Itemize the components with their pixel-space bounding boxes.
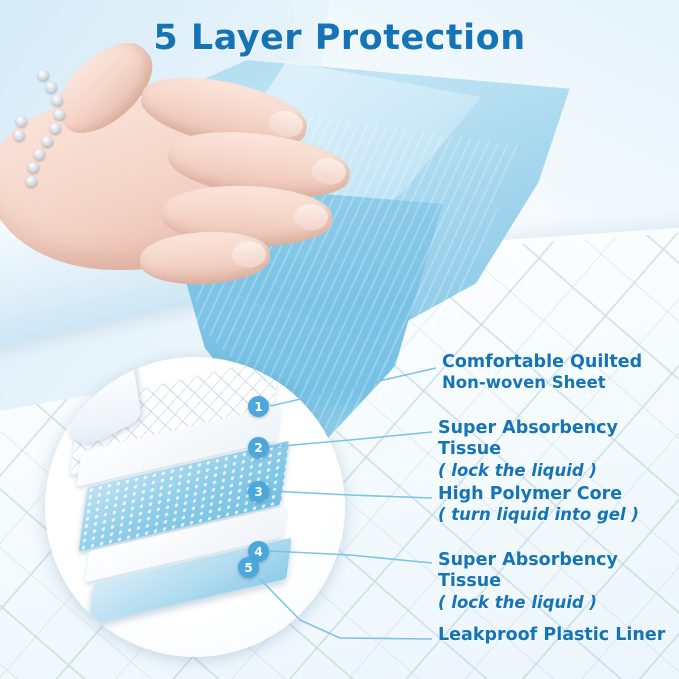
callout-2-line1: Super Absorbency Tissue bbox=[438, 418, 618, 459]
callout-4-note: ( lock the liquid ) bbox=[438, 593, 679, 613]
callout-3-note: ( turn liquid into gel ) bbox=[438, 505, 639, 525]
product-infographic: 5 Layer Protection 1 2 3 4 5 Comfortable… bbox=[0, 0, 679, 679]
callout-3-line1: High Polymer Core bbox=[438, 484, 622, 504]
fingernail bbox=[231, 241, 266, 269]
callout-1-line2: Non-woven Sheet bbox=[442, 373, 642, 393]
layer-badge-3: 3 bbox=[248, 481, 269, 502]
fingernail bbox=[310, 157, 347, 187]
callout-layer-3: High Polymer Core ( turn liquid into gel… bbox=[438, 484, 639, 525]
layer-diagram-circle bbox=[45, 357, 345, 657]
bracelet bbox=[12, 66, 104, 196]
callout-layer-2: Super Absorbency Tissue ( lock the liqui… bbox=[438, 418, 679, 481]
fingernail bbox=[294, 204, 329, 231]
callout-1-line1: Comfortable Quilted bbox=[442, 352, 642, 372]
page-title: 5 Layer Protection bbox=[0, 18, 679, 58]
callout-layer-1: Comfortable Quilted Non-woven Sheet bbox=[442, 352, 642, 393]
callout-4-line1: Super Absorbency Tissue bbox=[438, 550, 618, 591]
callout-2-note: ( lock the liquid ) bbox=[438, 461, 679, 481]
callout-layer-5: Leakproof Plastic Liner bbox=[438, 625, 665, 646]
callout-5-line1: Leakproof Plastic Liner bbox=[438, 625, 665, 645]
callout-layer-4: Super Absorbency Tissue ( lock the liqui… bbox=[438, 550, 679, 613]
layer-badge-2: 2 bbox=[248, 437, 269, 458]
layer-badge-5: 5 bbox=[238, 557, 259, 578]
layer-badge-1: 1 bbox=[248, 396, 269, 417]
